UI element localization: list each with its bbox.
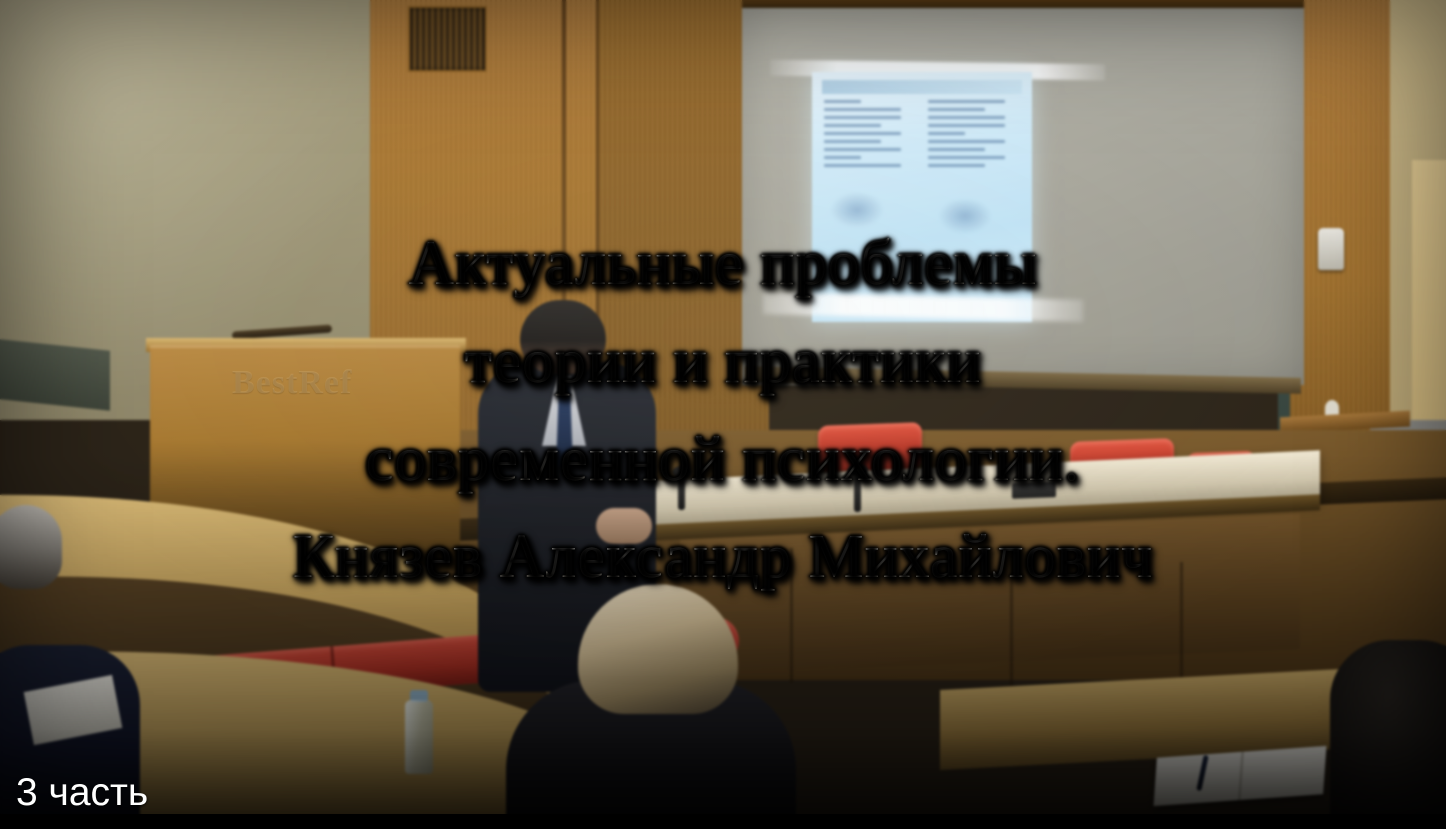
table-panel-seam-2 <box>1010 556 1013 691</box>
red-chair-1 <box>818 422 922 472</box>
slide-figure-right <box>938 198 992 234</box>
wall-mounted-device-icon <box>1318 228 1344 270</box>
slide-header-band <box>822 80 1022 94</box>
slide-column-right <box>928 100 1020 172</box>
water-bottle <box>405 700 433 774</box>
ventilation-grille <box>408 6 487 72</box>
slide-figure-left <box>830 192 884 228</box>
projection-screen-top-frame <box>742 0 1304 8</box>
slide-column-left <box>824 100 916 172</box>
audience-member-foreground <box>506 584 796 829</box>
audience-member-right <box>1330 640 1446 829</box>
chalkboard-edge <box>0 339 110 411</box>
video-frame: BestRef Актуальные проблемы теории и пра… <box>0 0 1446 829</box>
letterbox-bottom <box>0 814 1446 829</box>
microphone-head-2 <box>848 464 868 476</box>
cream-doorway <box>1412 160 1446 420</box>
lecture-hall-scene <box>0 0 1446 829</box>
table-nameplate <box>1012 481 1056 499</box>
part-caption: 3 часть <box>16 771 148 815</box>
microphone-stand-2 <box>854 470 861 512</box>
projected-slide <box>812 72 1032 322</box>
microphone-head-1 <box>672 466 692 478</box>
